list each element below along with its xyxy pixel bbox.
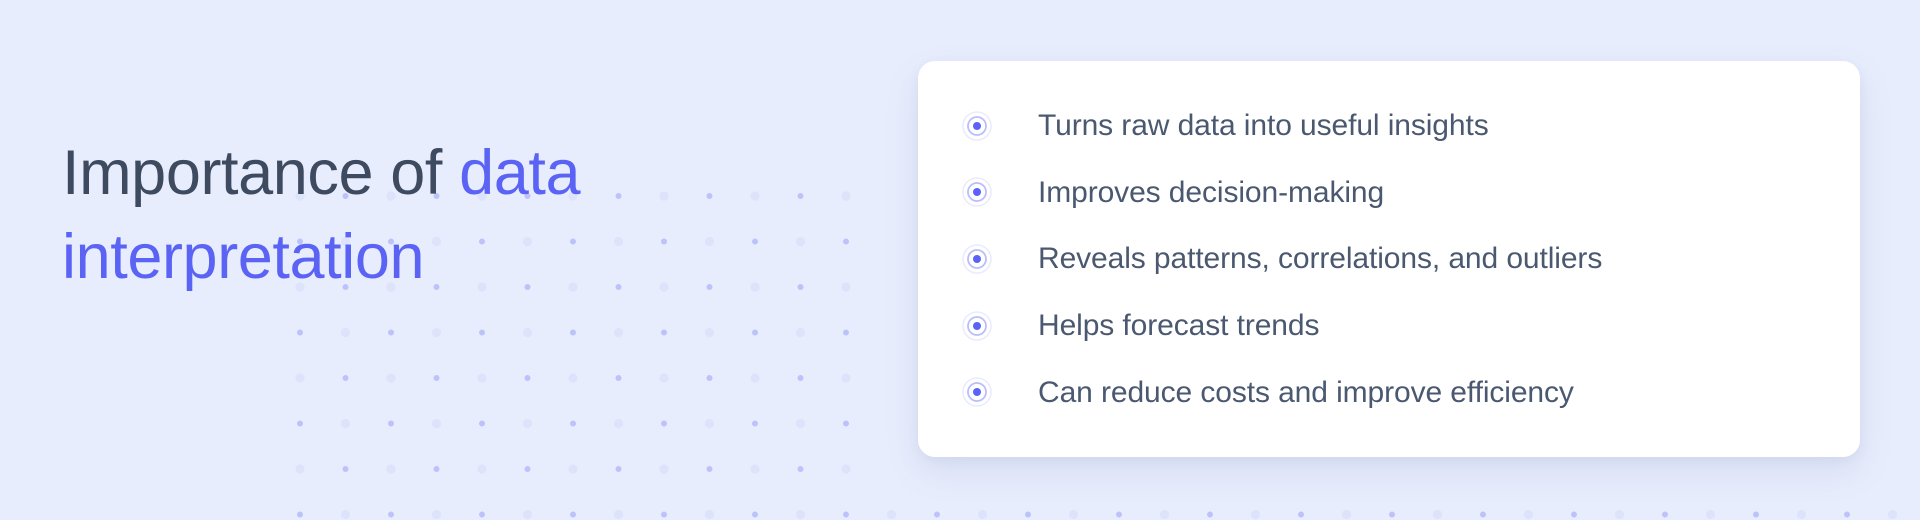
concentric-circle-bullet-icon [960, 109, 994, 143]
benefits-card: Turns raw data into useful insightsImpro… [918, 61, 1860, 457]
heading-block: Importance of data interpretation [62, 132, 852, 300]
page-title-lead: Importance of [62, 138, 459, 208]
list-item-label: Helps forecast trends [1038, 307, 1319, 345]
list-item: Improves decision-making [960, 174, 1820, 212]
page-title: Importance of data interpretation [62, 132, 852, 300]
concentric-circle-bullet-icon [960, 175, 994, 209]
concentric-circle-bullet-icon [960, 309, 994, 343]
list-item: Helps forecast trends [960, 307, 1820, 345]
list-item-label: Improves decision-making [1038, 174, 1384, 212]
list-item-label: Turns raw data into useful insights [1038, 107, 1489, 145]
list-item-label: Reveals patterns, correlations, and outl… [1038, 240, 1602, 278]
list-item: Reveals patterns, correlations, and outl… [960, 240, 1820, 278]
concentric-circle-bullet-icon [960, 375, 994, 409]
slide-root: Importance of data interpretation Turns … [0, 0, 1920, 520]
list-item-label: Can reduce costs and improve efficiency [1038, 374, 1574, 412]
list-item: Turns raw data into useful insights [960, 107, 1820, 145]
concentric-circle-bullet-icon [960, 242, 994, 276]
benefits-list: Turns raw data into useful insightsImpro… [960, 107, 1820, 411]
list-item: Can reduce costs and improve efficiency [960, 374, 1820, 412]
